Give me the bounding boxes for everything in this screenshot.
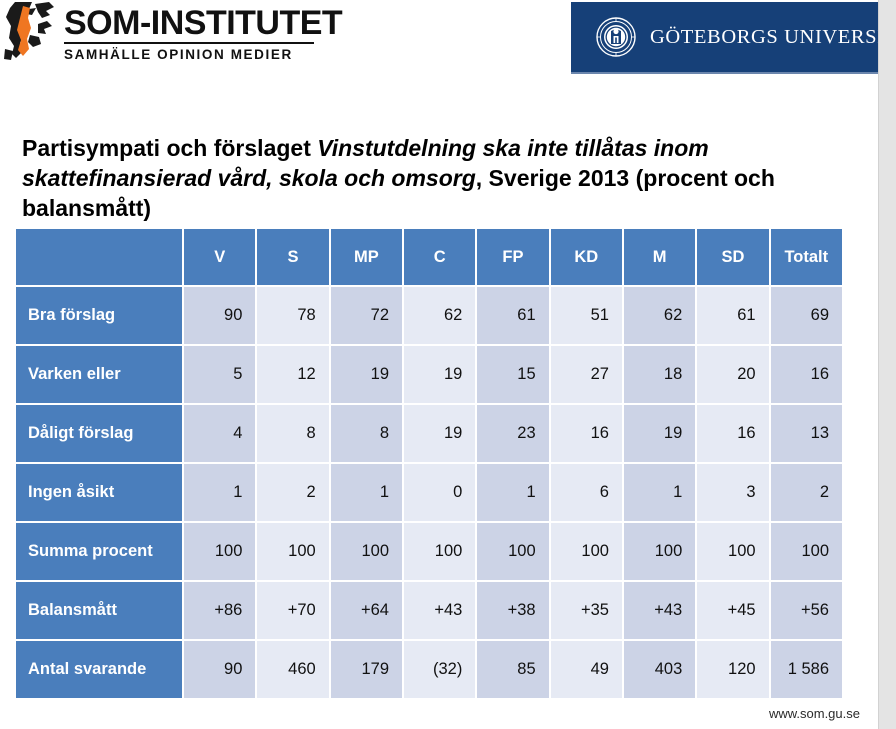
table-row: Ingen åsikt121016132 [16,464,844,523]
goteborgs-universitet-logo: GÖTEBORGS UNIVERSITET [571,2,878,74]
table-cell: 16 [771,346,844,405]
table-cell: 120 [697,641,770,700]
table-cell: 4 [184,405,257,464]
table-cell: +45 [697,582,770,641]
table-cell: 27 [551,346,624,405]
table-row: Varken eller51219191527182016 [16,346,844,405]
table-cell: 100 [697,523,770,582]
table-cell: 19 [404,405,477,464]
table-cell: 90 [184,287,257,346]
table-cell: 100 [771,523,844,582]
table-cell: +56 [771,582,844,641]
table-cell: 72 [331,287,404,346]
som-subtitle: SAMHÄLLE OPINION MEDIER [64,47,318,62]
table-cell: 62 [624,287,697,346]
table-cell: 16 [697,405,770,464]
table-cell: +43 [404,582,477,641]
column-header-kd: KD [551,229,624,287]
row-label: Dåligt förslag [16,405,184,464]
table-cell: 15 [477,346,550,405]
column-header-c: C [404,229,477,287]
table-cell: 62 [404,287,477,346]
footer-url: www.som.gu.se [0,706,860,721]
som-title: SOM-INSTITUTET [64,5,318,41]
table-cell: 8 [331,405,404,464]
gu-wordmark: GÖTEBORGS UNIVERSITET [650,26,878,49]
table-cell: 51 [551,287,624,346]
table-cell: +70 [257,582,330,641]
column-header-totalt: Totalt [771,229,844,287]
table-cell: 2 [257,464,330,523]
slide-page: SOM-INSTITUTET SAMHÄLLE OPINION MEDIER [0,0,878,729]
som-divider [64,42,314,44]
table-row: Bra förslag907872626151626169 [16,287,844,346]
table-cell: 1 [477,464,550,523]
table-cell: 100 [624,523,697,582]
table-cell: 0 [404,464,477,523]
row-label: Varken eller [16,346,184,405]
column-header-fp: FP [477,229,550,287]
table-cell: 85 [477,641,550,700]
table-cell: 12 [257,346,330,405]
sweden-map-icon [2,2,60,68]
table-row: Antal svarande90460179(32)85494031201 58… [16,641,844,700]
table-cell: 20 [697,346,770,405]
table-cell: 18 [624,346,697,405]
table-corner-cell [16,229,184,287]
table-cell: 78 [257,287,330,346]
column-header-mp: MP [331,229,404,287]
table-cell: 61 [477,287,550,346]
table-cell: 3 [697,464,770,523]
table-row: Summa procent100100100100100100100100100 [16,523,844,582]
table-cell: +35 [551,582,624,641]
table-cell: +86 [184,582,257,641]
table-cell: 16 [551,405,624,464]
table-cell: 100 [184,523,257,582]
table-cell: 8 [257,405,330,464]
table-cell: 49 [551,641,624,700]
table-cell: 61 [697,287,770,346]
table-cell: 1 [624,464,697,523]
table-cell: 69 [771,287,844,346]
table-cell: +43 [624,582,697,641]
table-cell: 100 [477,523,550,582]
column-header-s: S [257,229,330,287]
column-header-v: V [184,229,257,287]
partisympati-table: VSMPCFPKDMSDTotalt Bra förslag9078726261… [16,229,844,700]
page-right-margin [878,0,896,729]
data-table-wrapper: VSMPCFPKDMSDTotalt Bra förslag9078726261… [16,229,844,700]
table-cell: 460 [257,641,330,700]
som-wordmark: SOM-INSTITUTET SAMHÄLLE OPINION MEDIER [64,5,318,62]
table-cell: 179 [331,641,404,700]
table-cell: 5 [184,346,257,405]
table-cell: 23 [477,405,550,464]
table-cell: 2 [771,464,844,523]
page-title: Partisympati och förslaget Vinstutdelnin… [22,133,822,223]
table-cell: 1 [331,464,404,523]
table-cell: 90 [184,641,257,700]
row-label: Summa procent [16,523,184,582]
som-institutet-logo: SOM-INSTITUTET SAMHÄLLE OPINION MEDIER [2,2,322,72]
title-part1: Partisympati och förslaget [22,135,317,161]
table-body: Bra förslag907872626151626169Varken elle… [16,287,844,700]
table-cell: 13 [771,405,844,464]
table-cell: 6 [551,464,624,523]
table-row: Balansmått+86+70+64+43+38+35+43+45+56 [16,582,844,641]
table-cell: 100 [404,523,477,582]
table-cell: (32) [404,641,477,700]
gu-seal-icon [596,17,636,57]
table-cell: +64 [331,582,404,641]
table-head: VSMPCFPKDMSDTotalt [16,229,844,287]
row-label: Bra förslag [16,287,184,346]
row-label: Ingen åsikt [16,464,184,523]
table-cell: 100 [331,523,404,582]
branding-band: SOM-INSTITUTET SAMHÄLLE OPINION MEDIER [0,0,878,88]
table-cell: 19 [404,346,477,405]
table-cell: 1 586 [771,641,844,700]
table-cell: 100 [551,523,624,582]
row-label: Antal svarande [16,641,184,700]
table-cell: +38 [477,582,550,641]
table-cell: 100 [257,523,330,582]
column-header-sd: SD [697,229,770,287]
table-cell: 19 [331,346,404,405]
table-row: Dåligt förslag488192316191613 [16,405,844,464]
table-header-row: VSMPCFPKDMSDTotalt [16,229,844,287]
table-cell: 1 [184,464,257,523]
table-cell: 19 [624,405,697,464]
row-label: Balansmått [16,582,184,641]
table-cell: 403 [624,641,697,700]
column-header-m: M [624,229,697,287]
